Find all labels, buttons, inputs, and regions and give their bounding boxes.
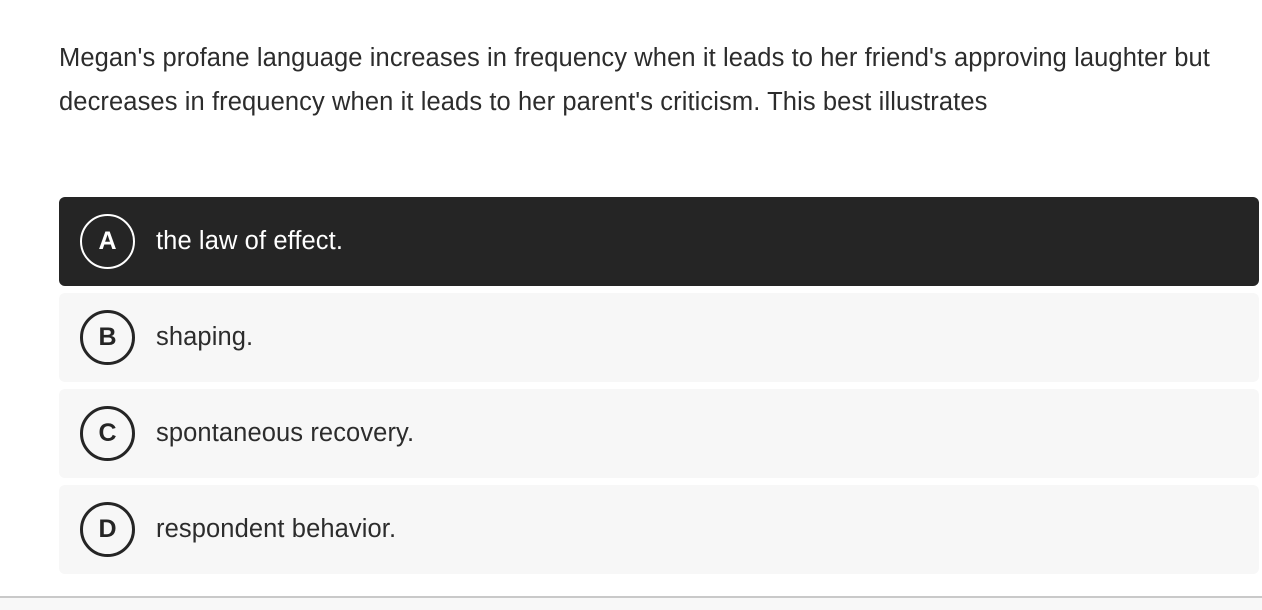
option-letter-badge-b: B	[80, 310, 135, 365]
option-letter-badge-a: A	[80, 214, 135, 269]
answer-option-a[interactable]: A the law of effect.	[59, 197, 1259, 286]
answer-option-d[interactable]: D respondent behavior.	[59, 485, 1259, 574]
footer-divider	[0, 596, 1262, 598]
answer-options-list: A the law of effect. B shaping. C sponta…	[59, 197, 1259, 581]
answer-option-c[interactable]: C spontaneous recovery.	[59, 389, 1259, 478]
option-letter-badge-d: D	[80, 502, 135, 557]
option-letter-badge-c: C	[80, 406, 135, 461]
option-label-a: the law of effect.	[156, 226, 343, 257]
question-stem: Megan's profane language increases in fr…	[59, 36, 1224, 124]
answer-option-b[interactable]: B shaping.	[59, 293, 1259, 382]
option-label-b: shaping.	[156, 322, 253, 353]
option-label-d: respondent behavior.	[156, 514, 396, 545]
quiz-question-page: Megan's profane language increases in fr…	[0, 0, 1262, 610]
option-label-c: spontaneous recovery.	[156, 418, 414, 449]
footer-strip	[0, 598, 1262, 610]
